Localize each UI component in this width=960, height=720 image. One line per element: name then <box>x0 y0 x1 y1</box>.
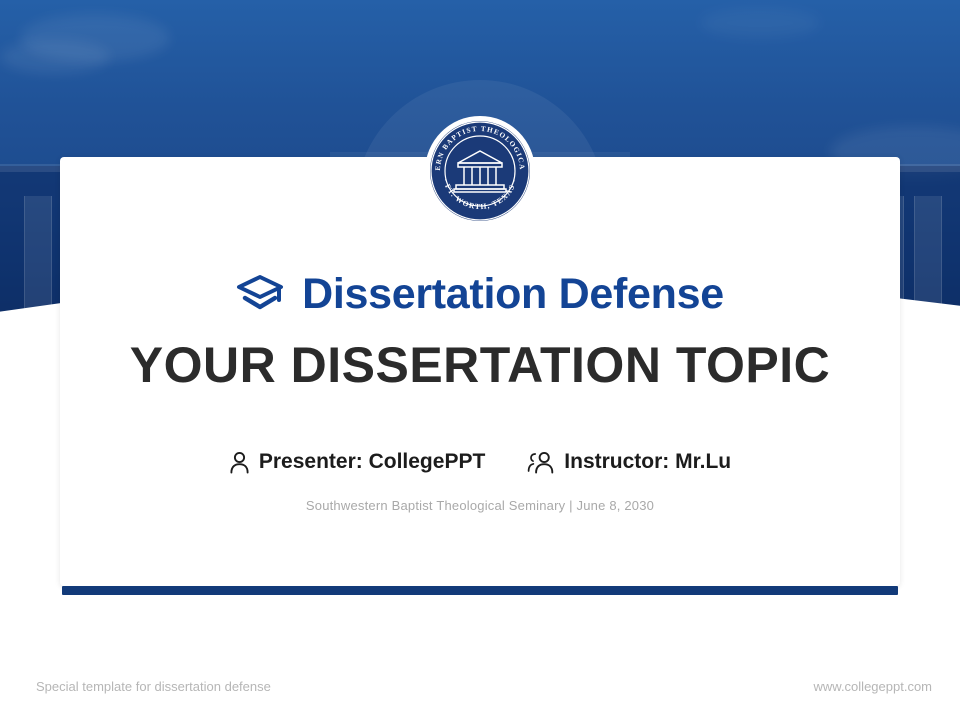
person-icon <box>229 451 250 474</box>
venue-date-line: Southwestern Baptist Theological Seminar… <box>0 498 960 513</box>
footer-website: www.collegeppt.com <box>814 679 933 694</box>
university-seal: SOUTHWESTERN BAPTIST THEOLOGICAL SEMINAR… <box>425 116 535 226</box>
cloud-shape <box>0 40 110 74</box>
dissertation-topic: YOUR DISSERTATION TOPIC <box>0 338 960 393</box>
presenter-label: Presenter: CollegePPT <box>259 450 485 474</box>
presentation-slide: SOUTHWESTERN BAPTIST THEOLOGICAL SEMINAR… <box>0 0 960 720</box>
card-accent-bar <box>62 586 898 595</box>
presenter-credit: Presenter: CollegePPT <box>229 450 485 474</box>
people-icon <box>527 451 555 474</box>
headline-row: Dissertation Defense <box>0 272 960 317</box>
cloud-shape <box>700 8 820 38</box>
graduation-cap-icon <box>236 272 284 317</box>
instructor-label: Instructor: Mr.Lu <box>564 450 731 474</box>
footer-note: Special template for dissertation defens… <box>36 679 271 694</box>
instructor-credit: Instructor: Mr.Lu <box>527 450 731 474</box>
page-title: Dissertation Defense <box>302 273 724 316</box>
credits-row: Presenter: CollegePPT Instructor: Mr.Lu <box>0 450 960 474</box>
